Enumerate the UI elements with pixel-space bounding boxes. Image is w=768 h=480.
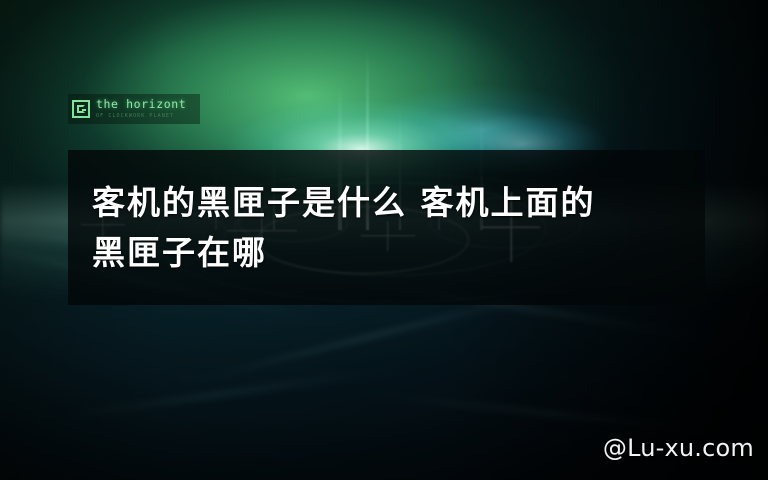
watermark: @Lu-xu.com: [603, 434, 754, 462]
banner-image: the horizont OF CLOCKWORK PLANET 客机的黑匣子是…: [0, 0, 768, 480]
brand-logo-subtitle: OF CLOCKWORK PLANET: [96, 114, 186, 119]
bracket-g-icon: [72, 100, 90, 118]
page-title: 客机的黑匣子是什么 客机上面的 黑匣子在哪: [92, 178, 692, 278]
energy-wisp: [385, 395, 721, 432]
page-title-line: 客机的黑匣子是什么 客机上面的: [92, 178, 692, 228]
page-title-line: 黑匣子在哪: [92, 228, 692, 278]
brand-logo-title: the horizont: [96, 99, 186, 111]
brand-logo-text: the horizont OF CLOCKWORK PLANET: [96, 99, 186, 119]
energy-wisp: [63, 372, 367, 417]
brand-logo: the horizont OF CLOCKWORK PLANET: [68, 94, 200, 124]
